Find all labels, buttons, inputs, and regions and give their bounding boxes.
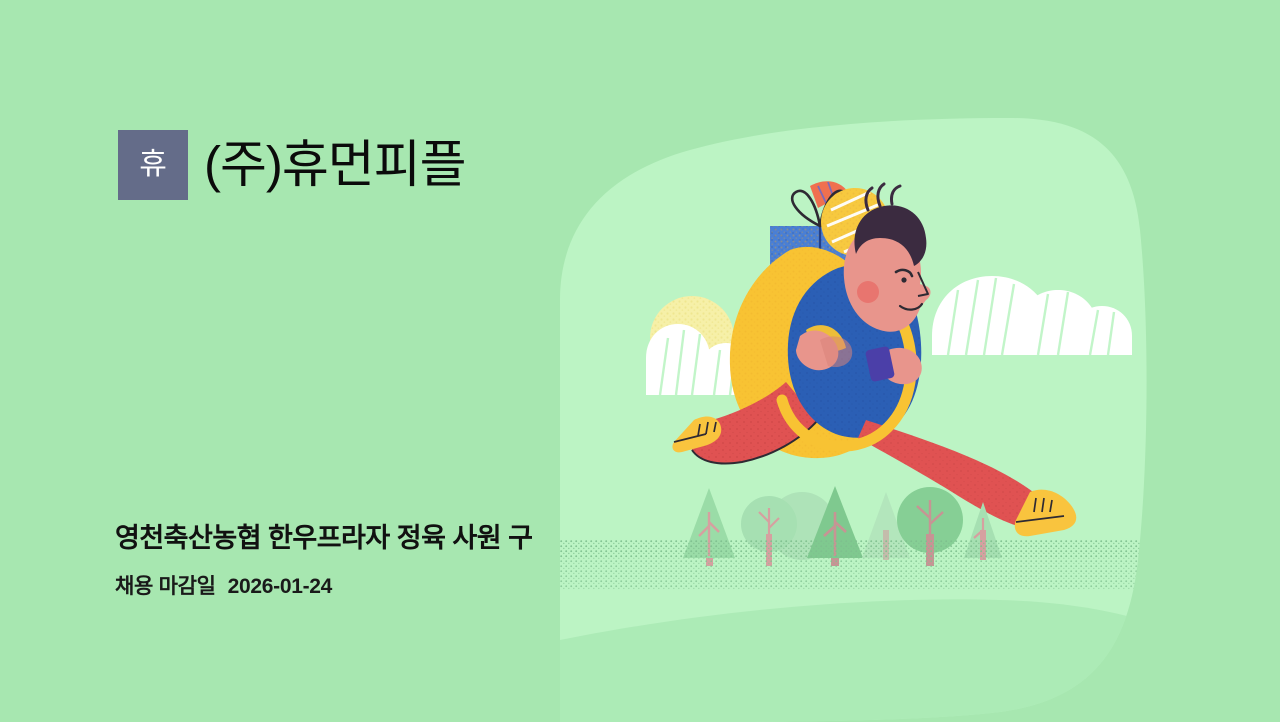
white-bush-right [932, 276, 1132, 355]
deadline-label: 채용 마감일 [115, 575, 216, 598]
leg-front [858, 420, 1076, 536]
ground-texture [560, 540, 1160, 590]
company-name: (주)휴먼피플 [204, 138, 466, 192]
posting-summary: 영천축산농협 한우프라자 정육 사원 구 채용 마감일2026-01-24 [115, 522, 532, 600]
gift-box [770, 191, 870, 306]
company-initial-badge: 휴 [118, 130, 188, 200]
bottom-hill [560, 599, 1160, 722]
runner [672, 181, 1076, 536]
background-blob [560, 118, 1147, 722]
striped-ball [821, 188, 889, 256]
white-bush-left [646, 324, 774, 395]
job-title: 영천축산농협 한우프라자 정육 사원 구 [115, 522, 532, 556]
tree [768, 492, 836, 560]
tree [964, 502, 1002, 560]
tree [683, 488, 735, 566]
running-man-with-gift-sack-illustration [0, 0, 1280, 722]
job-posting-card: 휴 (주)휴먼피플 영천축산농협 한우프라자 정육 사원 구 채용 마감일202… [0, 0, 1280, 722]
torso-shirt [788, 265, 921, 438]
tree [741, 496, 797, 566]
company-header: 휴 (주)휴먼피플 [118, 130, 466, 200]
tree [807, 486, 863, 566]
deadline-date: 2026-01-24 [228, 575, 332, 598]
leg-back [672, 382, 818, 464]
sun-icon [650, 296, 734, 380]
arm-back [796, 330, 852, 370]
confetti-wedge [810, 181, 848, 208]
tree [862, 492, 910, 560]
patterned-ball [784, 258, 860, 334]
sack-strap [782, 274, 911, 446]
gift-sack [730, 247, 893, 458]
tree-row [683, 486, 1002, 566]
striped-disc [838, 263, 902, 323]
arm-front [865, 346, 922, 384]
head [844, 184, 931, 332]
deadline-row: 채용 마감일2026-01-24 [115, 570, 532, 600]
tree [897, 487, 963, 566]
